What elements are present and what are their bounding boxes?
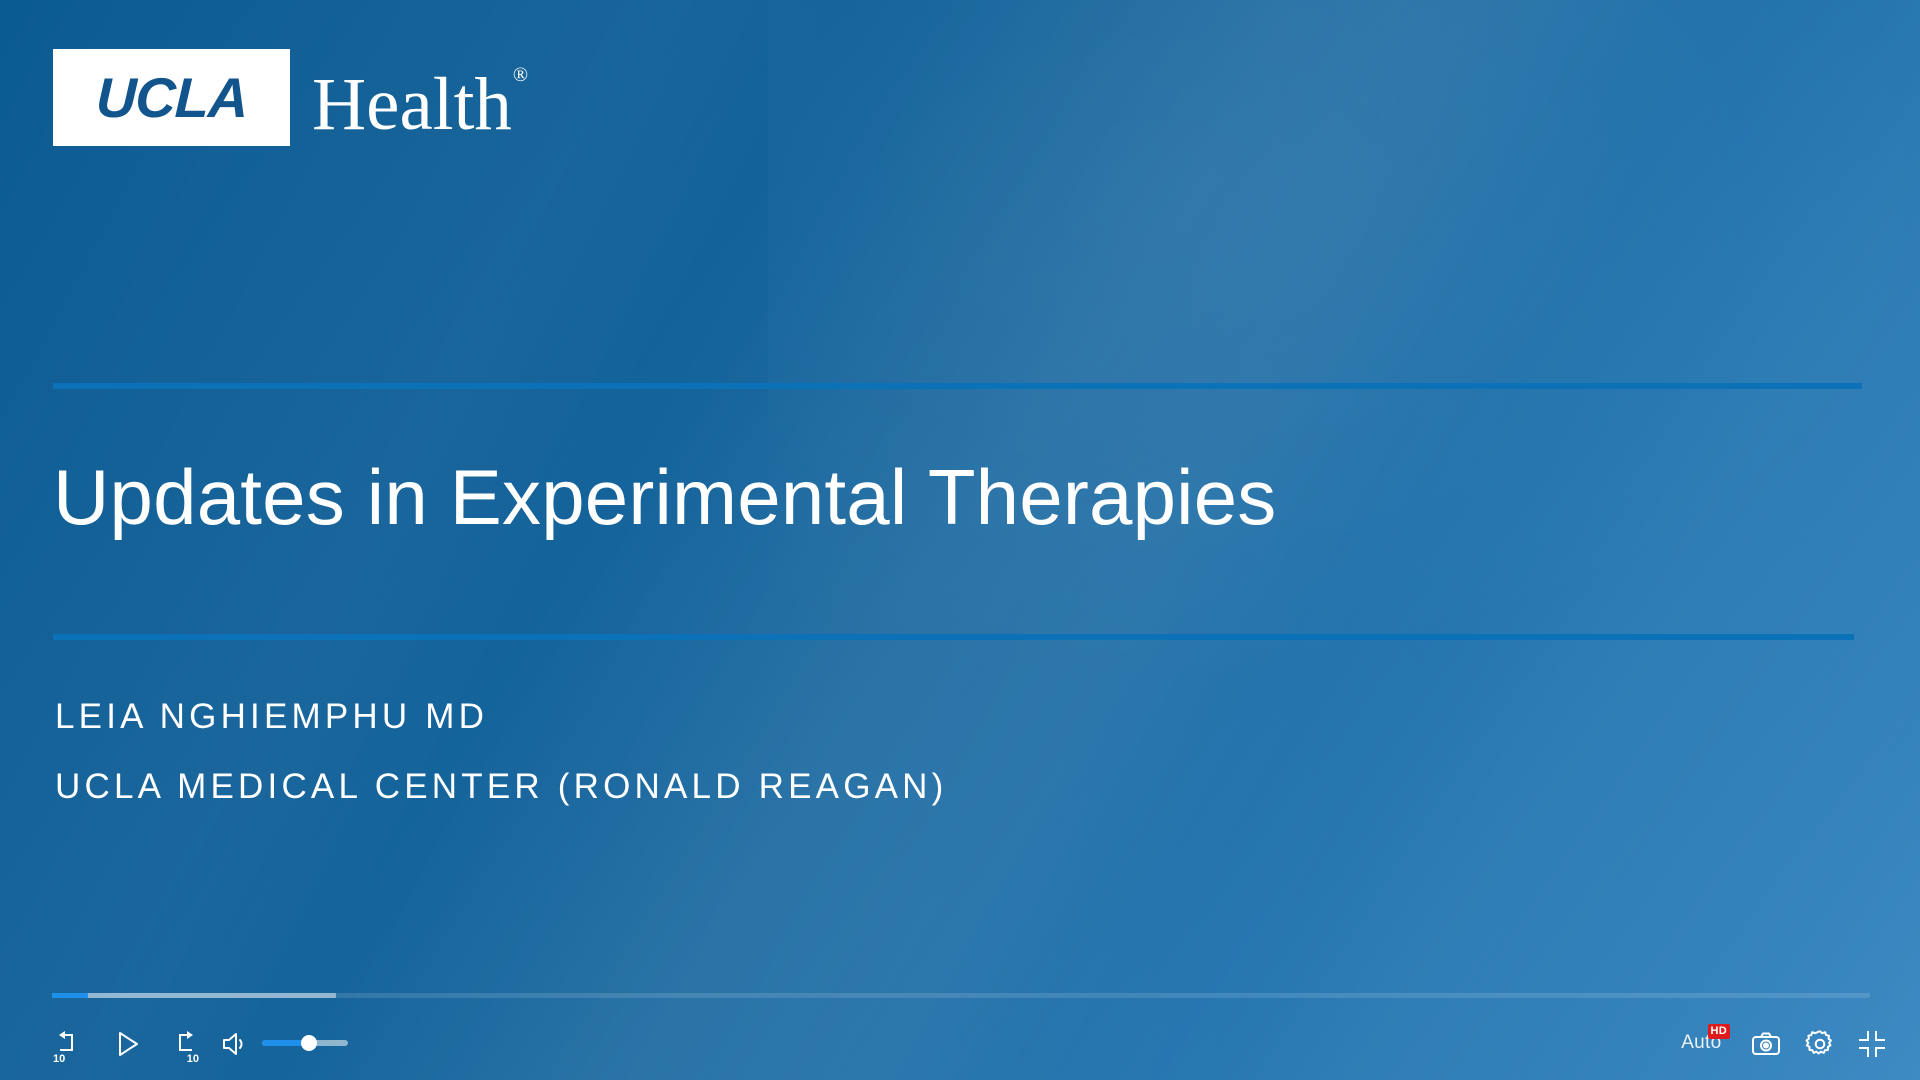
progress-buffered	[52, 993, 336, 998]
volume-slider[interactable]	[262, 1040, 348, 1046]
forward-10-button[interactable]: 10	[160, 1024, 200, 1064]
play-button[interactable]	[107, 1024, 147, 1064]
gear-icon	[1804, 1028, 1836, 1060]
author-affiliation: UCLA MEDICAL CENTER (RONALD REAGAN)	[55, 752, 948, 822]
rewind-10-button[interactable]: 10	[52, 1024, 92, 1064]
camera-icon	[1750, 1028, 1782, 1060]
title-rule-bottom	[53, 634, 1854, 640]
ucla-logo-box: UCLA	[53, 49, 290, 146]
slide-title: Updates in Experimental Therapies	[53, 455, 1753, 539]
progress-bar[interactable]	[52, 993, 1870, 998]
settings-button[interactable]	[1802, 1026, 1838, 1062]
exit-fullscreen-button[interactable]	[1854, 1026, 1890, 1062]
play-icon	[112, 1029, 142, 1059]
quality-selector-button[interactable]: Auto HD	[1681, 1028, 1730, 1060]
rewind-seconds-label: 10	[53, 1053, 65, 1065]
registered-trademark-icon: ®	[513, 64, 528, 86]
volume-icon	[220, 1029, 250, 1059]
health-text: Health	[312, 63, 512, 146]
presentation-slide: UCLA Health® Updates in Experimental The…	[0, 0, 1920, 1080]
hd-badge: HD	[1708, 1024, 1731, 1039]
progress-played	[52, 993, 88, 998]
volume-thumb[interactable]	[301, 1035, 317, 1051]
health-wordmark: Health®	[312, 49, 527, 153]
author-block: LEIA NGHIEMPHU MD UCLA MEDICAL CENTER (R…	[55, 682, 948, 822]
exit-fullscreen-icon	[1857, 1029, 1887, 1059]
author-name: LEIA NGHIEMPHU MD	[55, 682, 948, 752]
video-player-controls: 10 10	[0, 984, 1920, 1080]
title-rule-top	[53, 383, 1862, 389]
controls-row: 10 10	[0, 1014, 1920, 1074]
ucla-wordmark: UCLA	[95, 70, 248, 126]
forward-seconds-label: 10	[187, 1053, 199, 1065]
mute-button[interactable]	[216, 1024, 254, 1064]
snapshot-button[interactable]	[1748, 1026, 1784, 1062]
ucla-health-logo: UCLA Health®	[53, 49, 527, 153]
